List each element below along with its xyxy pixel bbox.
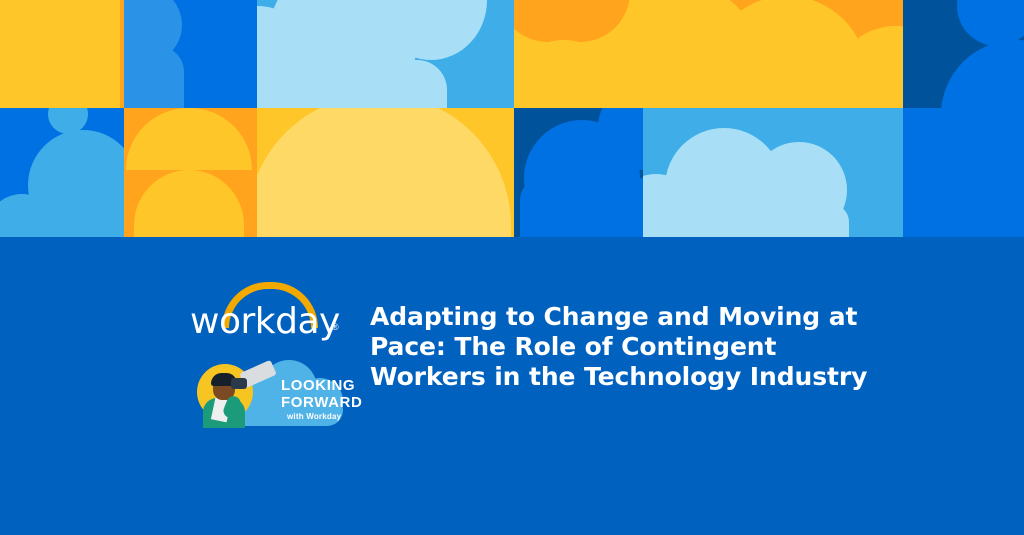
workday-wordmark: workday bbox=[190, 304, 350, 340]
hero-tile-r1c5 bbox=[643, 0, 903, 108]
hero-tile-r1c6 bbox=[903, 0, 1024, 108]
cloud-base-shape bbox=[124, 46, 184, 108]
looking-forward-badge[interactable]: LOOKING FORWARD with Workday bbox=[193, 356, 345, 428]
hero-tile-r2c4 bbox=[514, 108, 643, 237]
hero-tile-r1c2 bbox=[124, 0, 257, 108]
badge-line-3: with Workday bbox=[287, 413, 341, 421]
hero-tile-r1c4 bbox=[514, 0, 643, 108]
cloud-base-shape bbox=[257, 60, 447, 108]
binoculars-icon bbox=[231, 378, 247, 389]
hero-tile-r2c6 bbox=[903, 108, 1024, 237]
cloud-base-shape bbox=[643, 204, 849, 237]
hero-tile-r1c3 bbox=[257, 0, 514, 108]
decorative-cloud-grid-banner bbox=[0, 0, 1024, 237]
badge-line-2: FORWARD bbox=[281, 395, 362, 410]
promo-card: workday ® LOOKING FORWARD with Workday A… bbox=[0, 0, 1024, 535]
badge-line-1: LOOKING bbox=[281, 378, 355, 393]
cloud-lobe-shape bbox=[941, 40, 1024, 108]
arch-shape bbox=[126, 108, 252, 170]
hero-tile-r2c5 bbox=[643, 108, 903, 237]
hero-tile-r2c1 bbox=[0, 108, 124, 237]
arch-shape bbox=[134, 170, 244, 237]
cloud-base-shape bbox=[0, 212, 124, 237]
registered-trademark-icon: ® bbox=[332, 323, 339, 332]
quarter-circle-shape bbox=[0, 0, 120, 108]
cloud-base-shape bbox=[520, 178, 643, 237]
arch-shape bbox=[514, 40, 624, 108]
hero-tile-r2c3 bbox=[257, 108, 514, 237]
arch-shape bbox=[257, 108, 511, 237]
page-title: Adapting to Change and Moving at Pace: T… bbox=[370, 302, 870, 392]
cloud-lobe-shape bbox=[903, 108, 1024, 192]
hero-tile-r2c2 bbox=[124, 108, 257, 237]
hero-tile-r1c1 bbox=[0, 0, 124, 108]
workday-logo[interactable]: workday ® bbox=[190, 282, 350, 334]
